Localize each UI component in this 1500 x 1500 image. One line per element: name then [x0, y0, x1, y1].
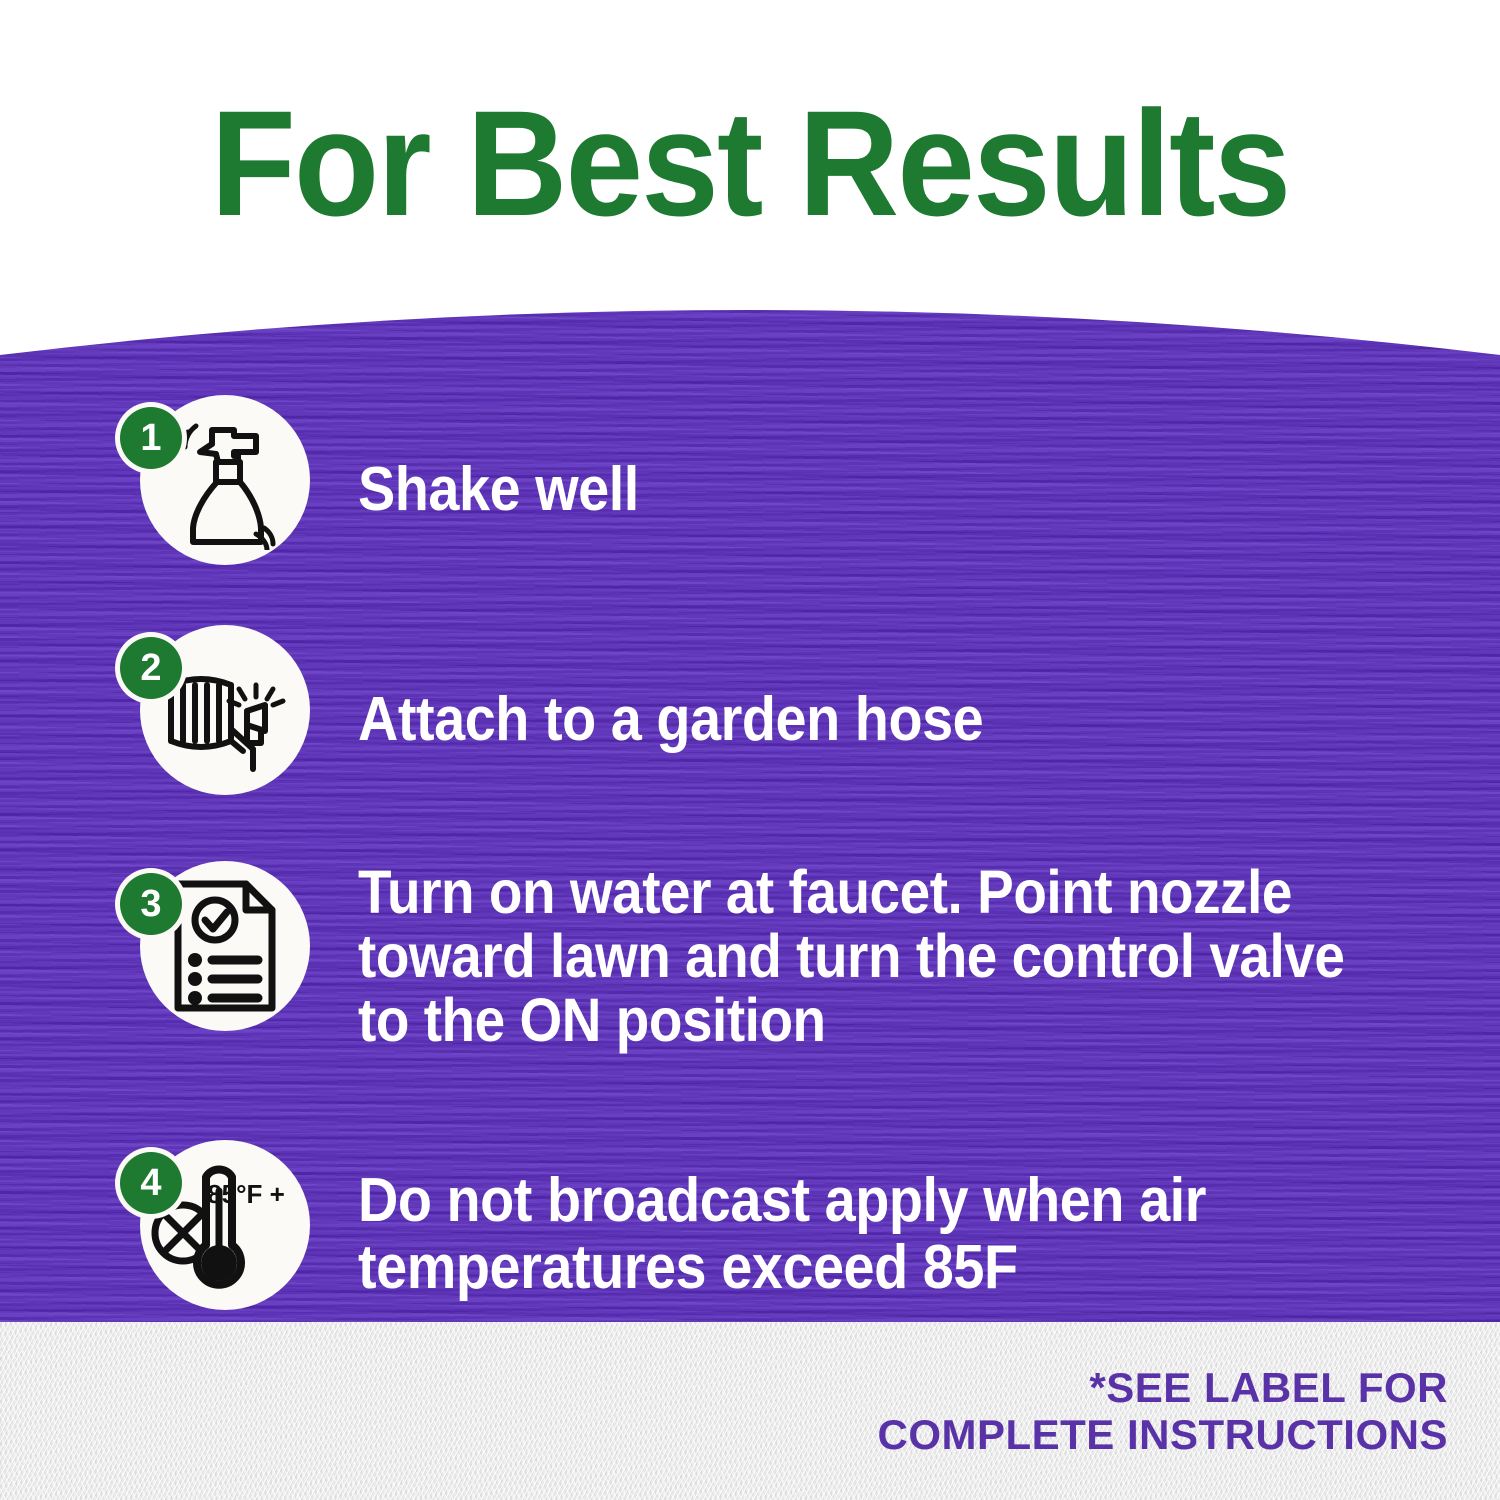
- step-icon-wrap: 1: [120, 395, 310, 585]
- steps-list: 1 Shake well: [0, 280, 1500, 1322]
- step-badge: 1: [120, 407, 182, 469]
- footer-note-line-1: *SEE LABEL FOR: [877, 1364, 1448, 1411]
- page-title: For Best Results: [211, 88, 1290, 238]
- step-badge: 4: [120, 1152, 182, 1214]
- step-badge: 3: [120, 873, 182, 935]
- list-item: 2 Attach to a garden hose: [120, 625, 1053, 815]
- list-item: 3 Turn on water at faucet. Point nozzle …: [120, 860, 1500, 1052]
- footer-note: *SEE LABEL FOR COMPLETE INSTRUCTIONS: [877, 1364, 1448, 1458]
- thermometer-temp-label: 85°F +: [207, 1179, 285, 1209]
- step-badge: 2: [120, 637, 182, 699]
- checklist-document-icon: [166, 876, 284, 1016]
- footer-note-line-2: COMPLETE INSTRUCTIONS: [877, 1411, 1448, 1458]
- title-area: For Best Results: [0, 88, 1500, 238]
- step-text: Do not broadcast apply when air temperat…: [358, 1168, 1386, 1302]
- step-icon-wrap: 3: [120, 861, 310, 1051]
- step-icon-wrap: 85°F + 4: [120, 1140, 310, 1330]
- footer-band: *SEE LABEL FOR COMPLETE INSTRUCTIONS: [0, 1322, 1500, 1500]
- step-text: Attach to a garden hose: [358, 687, 983, 754]
- step-icon-wrap: 2: [120, 625, 310, 815]
- step-text: Shake well: [358, 457, 639, 524]
- list-item: 85°F + 4 Do not broadcast apply when air…: [120, 1140, 1500, 1330]
- list-item: 1 Shake well: [120, 395, 670, 585]
- step-text: Turn on water at faucet. Point nozzle to…: [358, 860, 1386, 1052]
- infographic-canvas: For Best Results: [0, 0, 1500, 1500]
